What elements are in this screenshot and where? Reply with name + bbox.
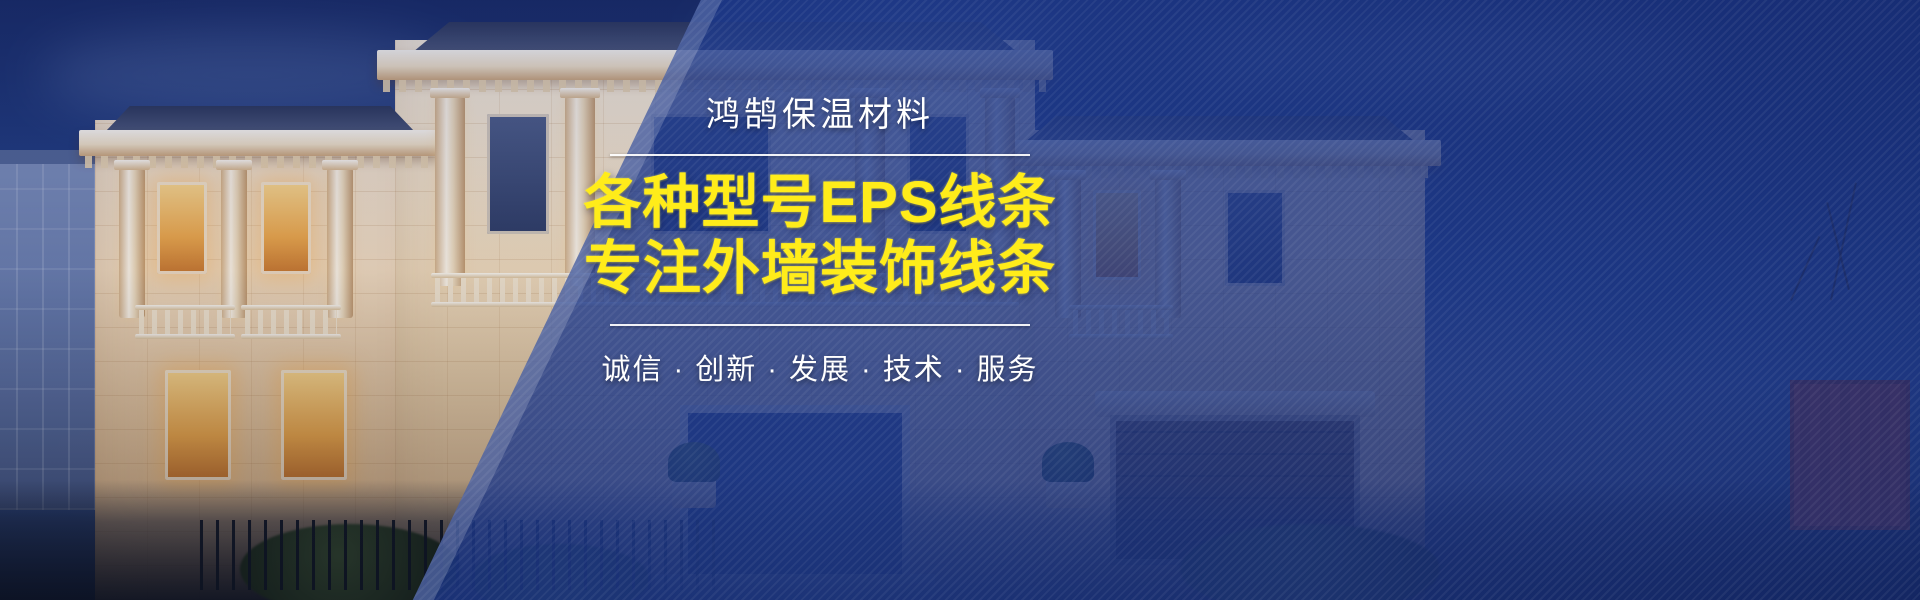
- divider-top: [610, 154, 1030, 156]
- promo-banner: 鸿鹄保温材料 各种型号EPS线条 专注外墙装饰线条 诚信 · 创新 · 发展 ·…: [0, 0, 1920, 600]
- banner-text-block: 鸿鹄保温材料 各种型号EPS线条 专注外墙装饰线条 诚信 · 创新 · 发展 ·…: [560, 95, 1080, 388]
- headline-line-1: 各种型号EPS线条: [583, 170, 1056, 236]
- divider-bottom: [610, 324, 1030, 326]
- headline-line-2: 专注外墙装饰线条: [584, 236, 1056, 302]
- tagline: 诚信 · 创新 · 发展 · 技术 · 服务: [601, 346, 1038, 388]
- brand-name: 鸿鹄保温材料: [706, 95, 934, 136]
